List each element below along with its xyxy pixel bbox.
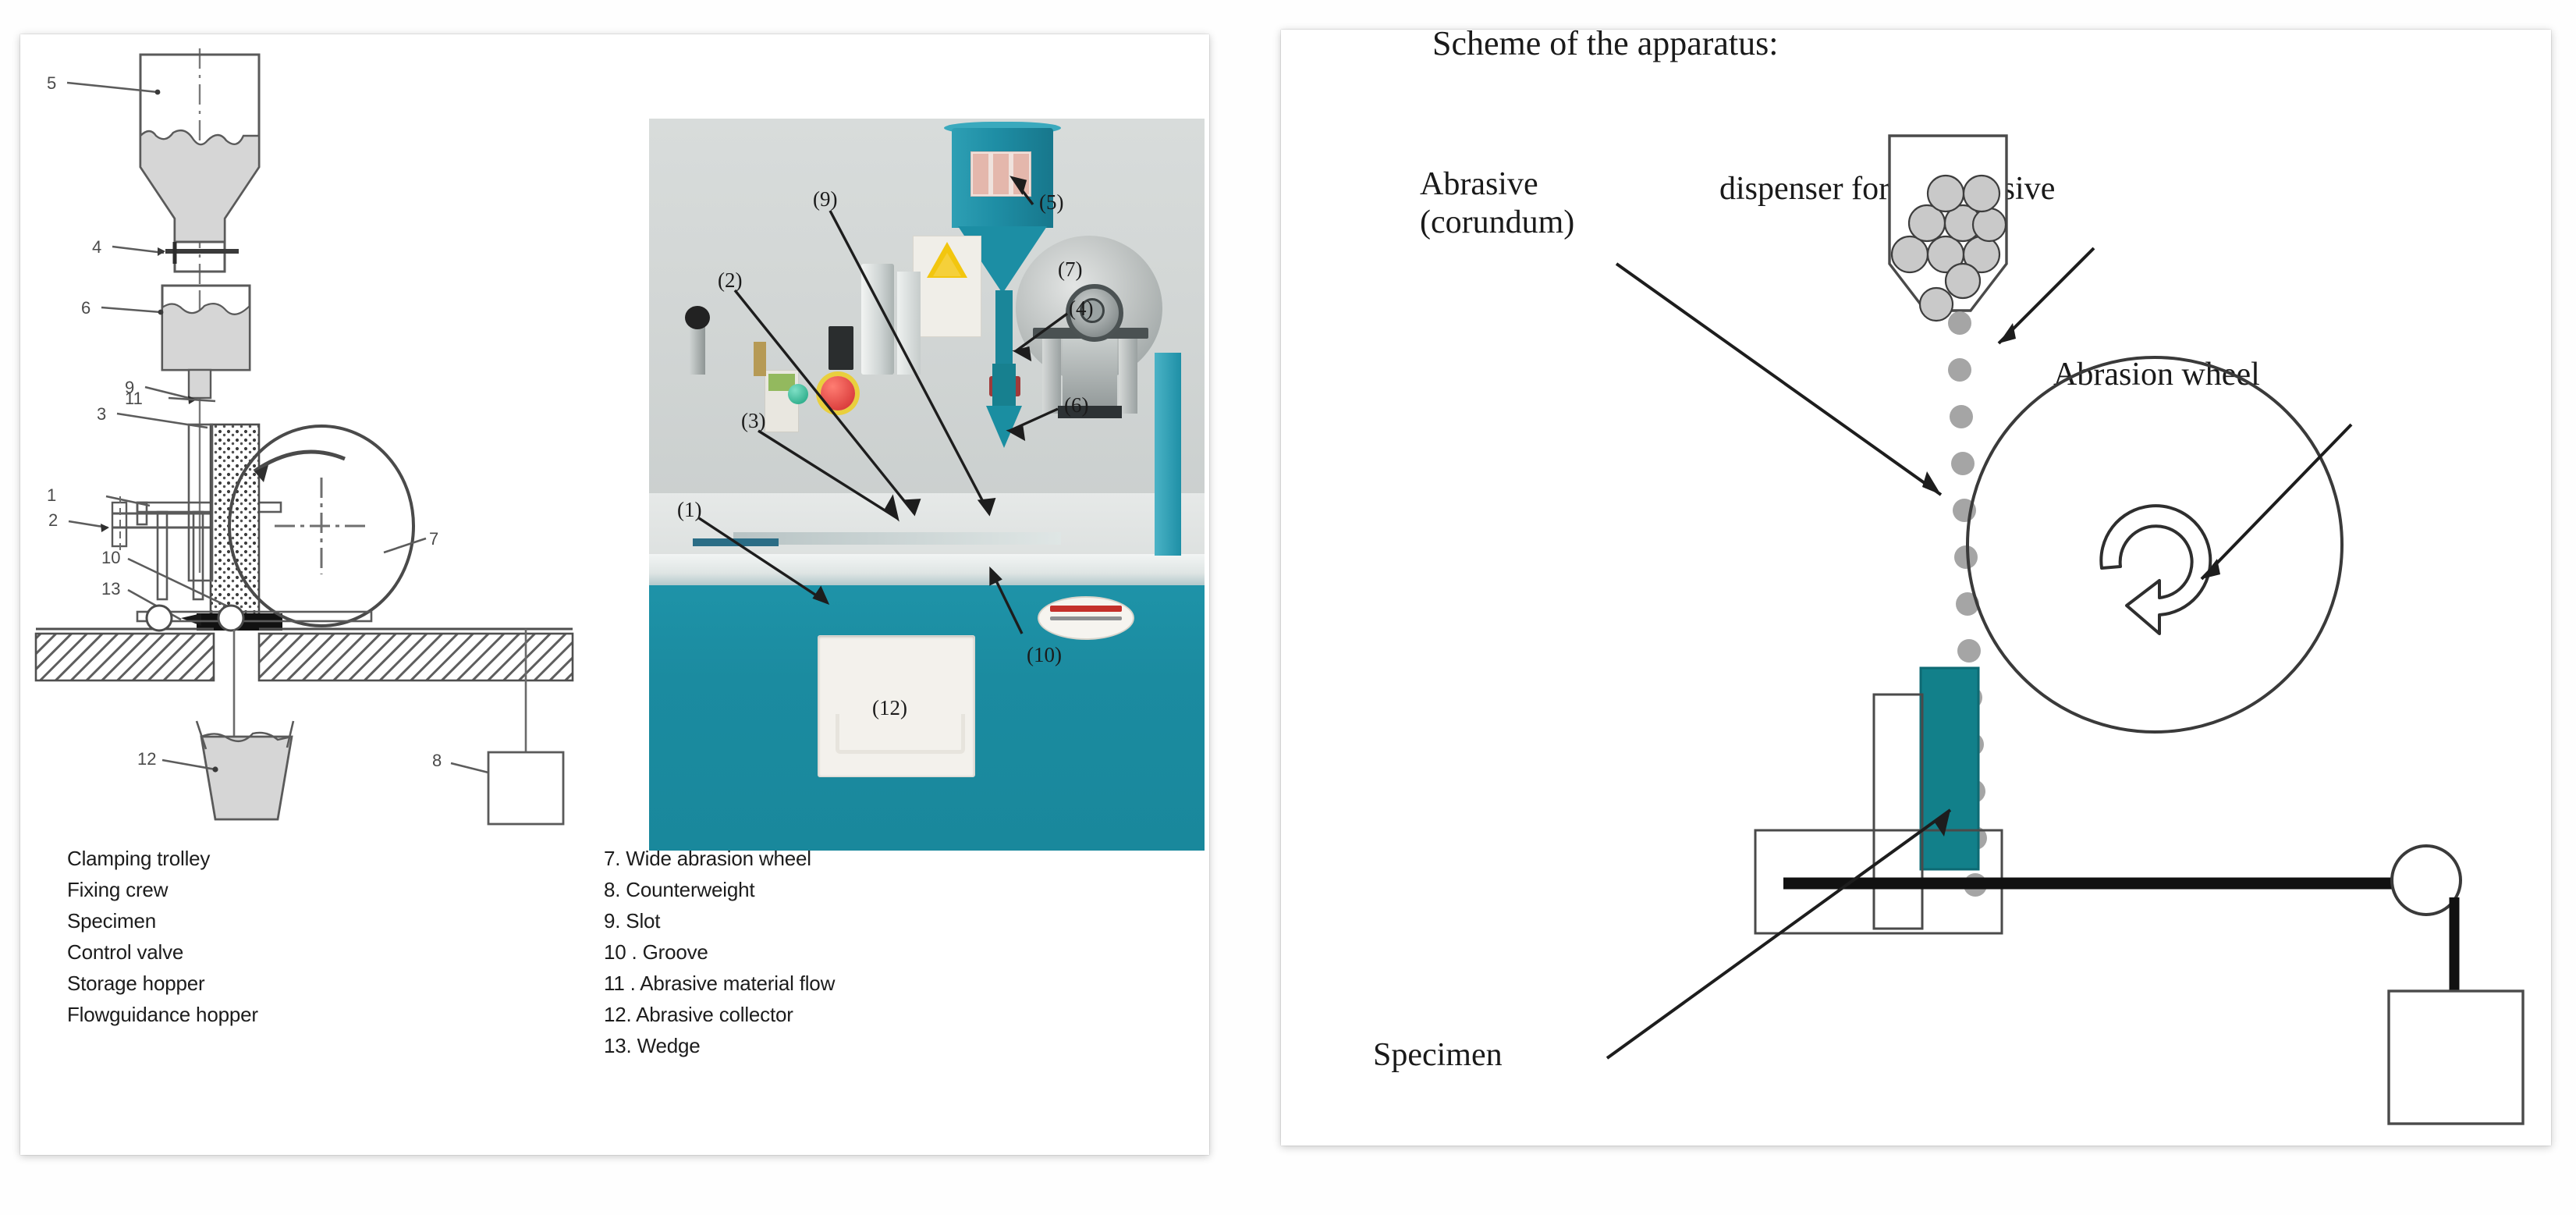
drawing-callout-11: 11 [125, 390, 143, 407]
legend-item: Storage hopper [67, 968, 258, 999]
legend-item: Clamping trolley [67, 843, 258, 874]
legend-item: 13. Wedge [604, 1030, 835, 1061]
legend-item: 9. Slot [604, 905, 835, 936]
right-slide-panel: Scheme of the apparatus: Abrasive (corun… [1281, 30, 2551, 1146]
legend-item: Specimen [67, 905, 258, 936]
drawing-callout-1: 1 [47, 487, 56, 504]
left-slide-panel: 5 4 6 9 3 11 2 10 13 1 7 12 8 [20, 34, 1209, 1155]
photo-callout-4: (4) [1069, 297, 1093, 321]
drawing-callout-3: 3 [97, 406, 106, 423]
drawing-callout-10: 10 [101, 549, 120, 567]
drawing-callout-6: 6 [81, 300, 90, 317]
legend-list-right: 7. Wide abrasion wheel 8. Counterweight … [604, 843, 835, 1061]
photo-callout-7: (7) [1058, 258, 1082, 282]
legend-item: Fixing crew [67, 874, 258, 905]
legend-item: 11 . Abrasive material flow [604, 968, 835, 999]
apparatus-photograph: (9) (2) (3) (1) (5) (4) (6) (7) (10) (12… [649, 119, 1205, 851]
drawing-callout-4: 4 [92, 239, 101, 256]
legend-item: 7. Wide abrasion wheel [604, 843, 835, 874]
legend-item: 8. Counterweight [604, 874, 835, 905]
screenshot-canvas: 5 4 6 9 3 11 2 10 13 1 7 12 8 [0, 0, 2576, 1215]
drawing-callout-2: 2 [48, 512, 58, 529]
photo-leader-lines [649, 119, 1205, 851]
drawing-callout-8: 8 [432, 752, 442, 769]
drawing-callout-7: 7 [429, 531, 438, 548]
photo-callout-9: (9) [813, 187, 837, 211]
legend-list-left: Clamping trolley Fixing crew Specimen Co… [67, 843, 258, 1030]
drawing-callout-5: 5 [47, 75, 56, 92]
photo-callout-6: (6) [1064, 393, 1088, 417]
apparatus-scheme-diagram [1281, 30, 2551, 1146]
photo-callout-10: (10) [1027, 643, 1062, 667]
apparatus-technical-drawing [20, 34, 613, 846]
photo-callout-12: (12) [872, 696, 907, 720]
photo-callout-5: (5) [1039, 190, 1063, 215]
drawing-callout-12: 12 [137, 751, 156, 768]
legend-item: Flowguidance hopper [67, 999, 258, 1030]
photo-callout-1: (1) [677, 498, 701, 522]
drawing-callout-13: 13 [101, 581, 120, 598]
legend-item: 12. Abrasive collector [604, 999, 835, 1030]
photo-callout-2: (2) [718, 268, 742, 293]
legend-item: 10 . Groove [604, 936, 835, 968]
legend-item: Control valve [67, 936, 258, 968]
photo-callout-3: (3) [741, 409, 765, 433]
